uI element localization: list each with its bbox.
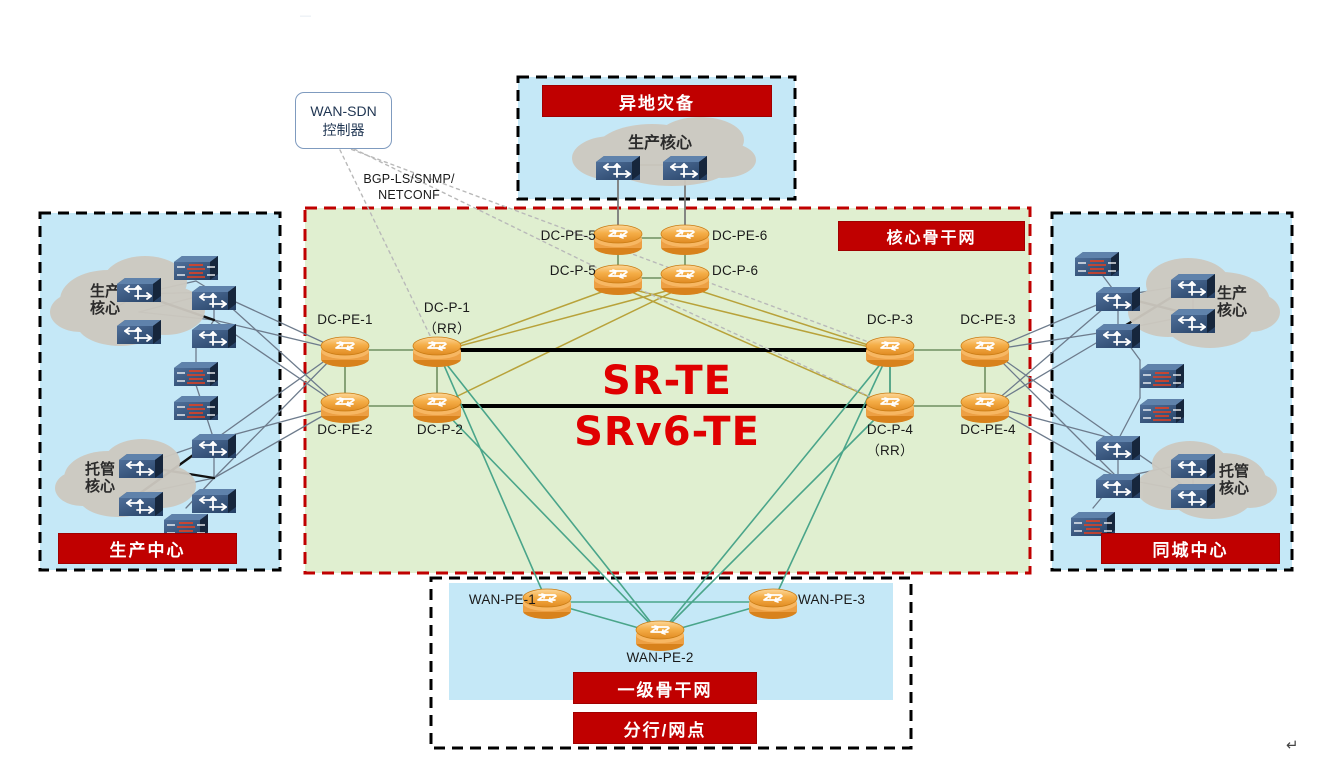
device-left-agg-sw-4 <box>192 489 236 513</box>
device-right-host-sw-2 <box>1171 484 1215 508</box>
paragraph-mark: ↵ <box>1286 736 1299 754</box>
router-DC-PE-1 <box>321 337 369 367</box>
device-right-prod-sw-2 <box>1171 309 1215 333</box>
node-label-DC-P-6: DC-P-6 <box>712 263 758 278</box>
node-sublabel-DC-P-4: （RR） <box>866 439 913 459</box>
device-right-agg-sw-4 <box>1096 474 1140 498</box>
router-DC-P-6 <box>661 265 709 295</box>
router-DC-PE-4 <box>961 393 1009 423</box>
device-right-prod-sw-1 <box>1171 274 1215 298</box>
banner-metro-center: 同城中心 <box>1101 533 1280 564</box>
node-label-DC-P-1: DC-P-1 <box>424 300 470 315</box>
device-left-agg-sw-3 <box>192 434 236 458</box>
node-label-WAN-PE-2: WAN-PE-2 <box>626 650 693 665</box>
controller-title-line2: 控制器 <box>323 121 365 140</box>
device-left-fw-2 <box>174 362 218 386</box>
device-right-fw-3 <box>1140 399 1184 423</box>
router-DC-P-2 <box>413 393 461 423</box>
node-label-DC-PE-5: DC-PE-5 <box>541 228 596 243</box>
node-label-DC-PE-2: DC-PE-2 <box>317 422 372 437</box>
router-WAN-PE-2 <box>636 621 684 651</box>
device-left-host-sw-2 <box>119 492 163 516</box>
device-right-agg-sw-3 <box>1096 436 1140 460</box>
device-right-host-sw-1 <box>1171 454 1215 478</box>
node-label-DC-P-4: DC-P-4 <box>867 422 913 437</box>
controller-title-line1: WAN-SDN <box>310 102 376 121</box>
router-DC-PE-3 <box>961 337 1009 367</box>
device-left-agg-sw-1 <box>192 286 236 310</box>
router-DC-P-4 <box>866 393 914 423</box>
node-label-WAN-PE-3: WAN-PE-3 <box>798 592 865 607</box>
srte-label: SR-TE <box>602 358 732 404</box>
device-left-host-sw-1 <box>119 454 163 478</box>
node-label-DC-P-5: DC-P-5 <box>550 263 596 278</box>
banner-production-center: 生产中心 <box>58 533 237 564</box>
network-topology-diagram: 生产核心 托管核心 生产核心 托管核心 生产核心 <box>0 0 1338 783</box>
device-dr-sw-1 <box>596 156 640 180</box>
router-DC-PE-5 <box>594 225 642 255</box>
banner-dr-site: 异地灾备 <box>542 85 772 117</box>
router-DC-P-5 <box>594 265 642 295</box>
top-artifact: — <box>300 10 311 22</box>
node-label-DC-PE-1: DC-PE-1 <box>317 312 372 327</box>
banner-core-backbone: 核心骨干网 <box>838 221 1025 251</box>
device-dr-sw-2 <box>663 156 707 180</box>
router-DC-P-3 <box>866 337 914 367</box>
node-label-DC-PE-3: DC-PE-3 <box>960 312 1015 327</box>
banner-branch-sites: 分行/网点 <box>573 712 757 744</box>
srv6te-label: SRv6-TE <box>574 409 760 455</box>
node-label-DC-PE-6: DC-PE-6 <box>712 228 767 243</box>
controller-protocol-line2: NETCONF <box>378 188 440 202</box>
router-DC-PE-6 <box>661 225 709 255</box>
node-label-DC-P-2: DC-P-2 <box>417 422 463 437</box>
device-right-fw-1 <box>1075 252 1119 276</box>
device-right-agg-sw-2 <box>1096 324 1140 348</box>
node-sublabel-DC-P-1: （RR） <box>423 317 470 337</box>
router-WAN-PE-3 <box>749 589 797 619</box>
device-right-agg-sw-1 <box>1096 287 1140 311</box>
router-DC-P-1 <box>413 337 461 367</box>
router-DC-PE-2 <box>321 393 369 423</box>
banner-primary-backbone: 一级骨干网 <box>573 672 757 704</box>
node-label-DC-PE-4: DC-PE-4 <box>960 422 1015 437</box>
wan-sdn-controller-box[interactable]: WAN-SDN 控制器 <box>295 92 392 149</box>
node-label-WAN-PE-1: WAN-PE-1 <box>469 592 536 607</box>
device-left-prod-sw-1 <box>117 278 161 302</box>
device-left-prod-sw-2 <box>117 320 161 344</box>
controller-protocol-line1: BGP-LS/SNMP/ <box>363 172 454 186</box>
device-right-fw-2 <box>1140 364 1184 388</box>
node-label-DC-P-3: DC-P-3 <box>867 312 913 327</box>
device-left-agg-sw-2 <box>192 324 236 348</box>
device-left-fw-3 <box>174 396 218 420</box>
device-left-fw-1 <box>174 256 218 280</box>
